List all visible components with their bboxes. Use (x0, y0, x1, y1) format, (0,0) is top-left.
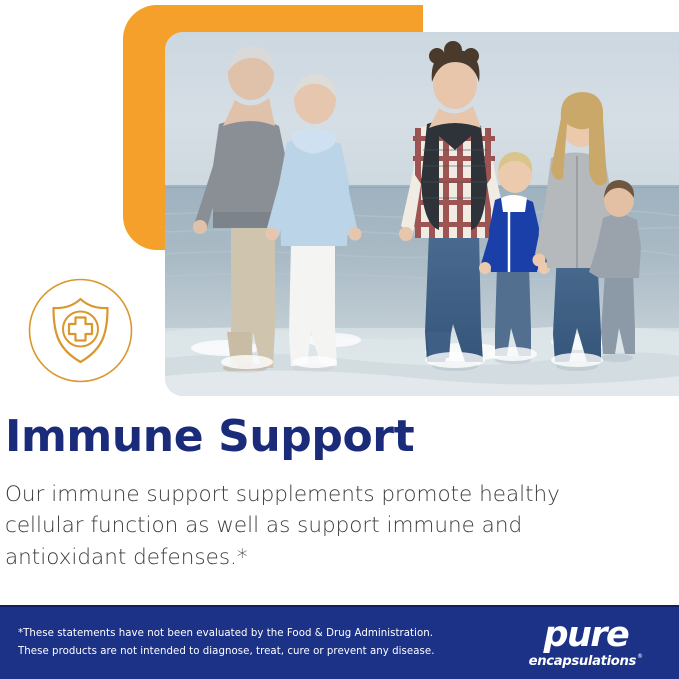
content-block: Immune Support Our immune support supple… (5, 412, 645, 574)
shield-cross-icon (27, 277, 134, 384)
product-category-banner: Immune Support Our immune support supple… (0, 0, 679, 679)
registered-mark-icon: ® (637, 654, 643, 660)
pure-encapsulations-logo: pure encapsulations ® (529, 618, 657, 668)
page-subtitle: Our immune support supplements promote h… (5, 479, 605, 574)
brand-wordmark: pure (544, 618, 629, 653)
page-title: Immune Support (5, 412, 645, 463)
footer-bar: *These statements have not been evaluate… (0, 605, 679, 679)
hero-photo (165, 32, 679, 396)
brand-tagline: encapsulations (529, 655, 636, 668)
beach-family-illustration (165, 32, 679, 396)
fda-disclaimer-text: *These statements have not been evaluate… (18, 625, 435, 660)
brand-tagline-wrap: encapsulations ® (529, 653, 643, 668)
